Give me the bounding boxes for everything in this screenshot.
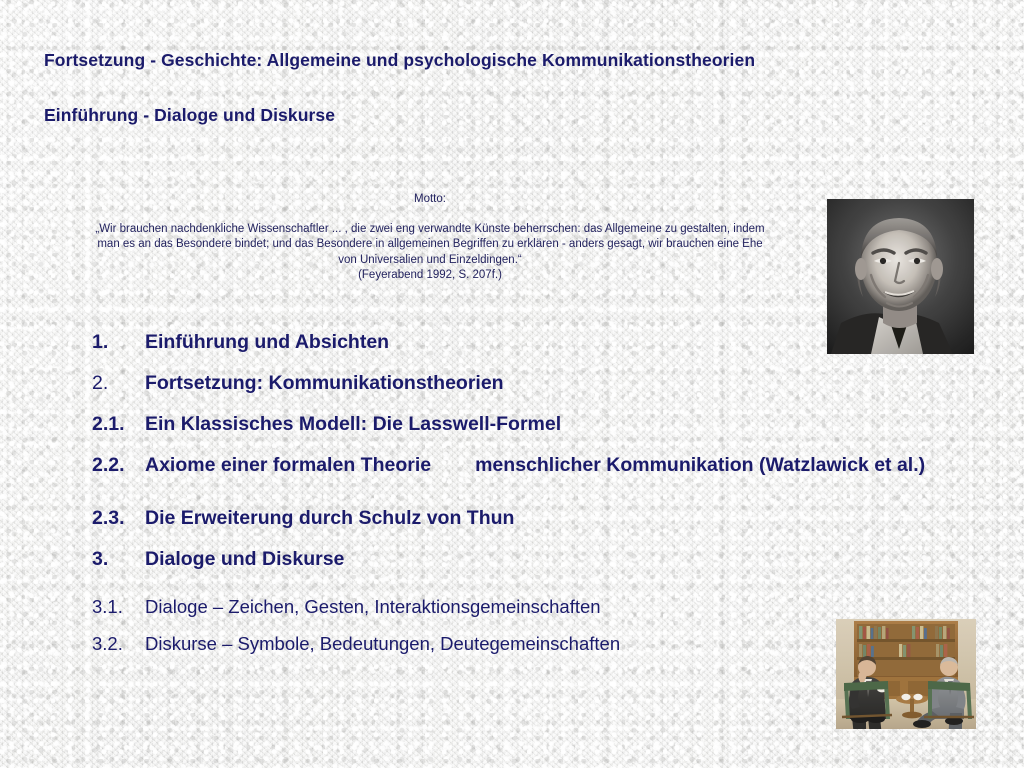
agenda-item-label-part-1: Axiome einer formalen Theorie	[145, 454, 431, 476]
motto-block: Motto: „Wir brauchen nachdenkliche Wisse…	[95, 192, 765, 284]
agenda-item-number: 2.2.	[92, 453, 145, 477]
agenda-item-label: Ein Klassisches Modell: Die Lasswell-For…	[145, 412, 992, 436]
agenda-item-label: Die Erweiterung durch Schulz von Thun	[145, 506, 992, 530]
agenda-item-3-1: 3.1. Dialoge – Zeichen, Gesten, Interakt…	[92, 595, 992, 618]
agenda-item-label: Dialoge und Diskurse	[145, 547, 992, 571]
agenda-item-2-3: 2.3. Die Erweiterung durch Schulz von Th…	[92, 506, 992, 530]
agenda-list: 1. Einführung und Absichten 2. Fortsetzu…	[92, 330, 992, 655]
slide-content: Fortsetzung - Geschichte: Allgemeine und…	[0, 0, 1024, 768]
motto-label: Motto:	[95, 192, 765, 208]
agenda-item-2-2: 2.2. Axiome einer formalen Theoriemensch…	[92, 453, 992, 477]
agenda-item-number: 3.1.	[92, 595, 145, 618]
agenda-item-number: 2.	[92, 371, 145, 395]
slide-title-line-1: Fortsetzung - Geschichte: Allgemeine und…	[44, 50, 755, 71]
agenda-item-label: Dialoge – Zeichen, Gesten, Interaktionsg…	[145, 595, 992, 618]
dialogue-photo-two-men	[836, 619, 976, 729]
motto-quote-text: „Wir brauchen nachdenkliche Wissenschaft…	[95, 222, 765, 269]
agenda-item-label-part-2: menschlicher Kommunikation (Watzlawick e…	[475, 454, 925, 476]
agenda-item-number: 3.	[92, 547, 145, 571]
agenda-item-number: 3.2.	[92, 632, 145, 655]
agenda-item-number: 2.1.	[92, 412, 145, 436]
agenda-item-label: Axiome einer formalen Theoriemenschliche…	[145, 453, 992, 477]
agenda-item-2: 2. Fortsetzung: Kommunikationstheorien	[92, 371, 992, 395]
slide-title-line-2: Einführung - Dialoge und Diskurse	[44, 105, 335, 126]
motto-source-citation: (Feyerabend 1992, S. 207f.)	[95, 268, 765, 284]
agenda-item-number: 2.3.	[92, 506, 145, 530]
portrait-photo-feyerabend	[827, 199, 974, 354]
agenda-item-label: Fortsetzung: Kommunikationstheorien	[145, 371, 992, 395]
agenda-item-number: 1.	[92, 330, 145, 354]
agenda-item-2-1: 2.1. Ein Klassisches Modell: Die Lasswel…	[92, 412, 992, 436]
agenda-item-3: 3. Dialoge und Diskurse	[92, 547, 992, 571]
slide: Fortsetzung - Geschichte: Allgemeine und…	[0, 0, 1024, 768]
